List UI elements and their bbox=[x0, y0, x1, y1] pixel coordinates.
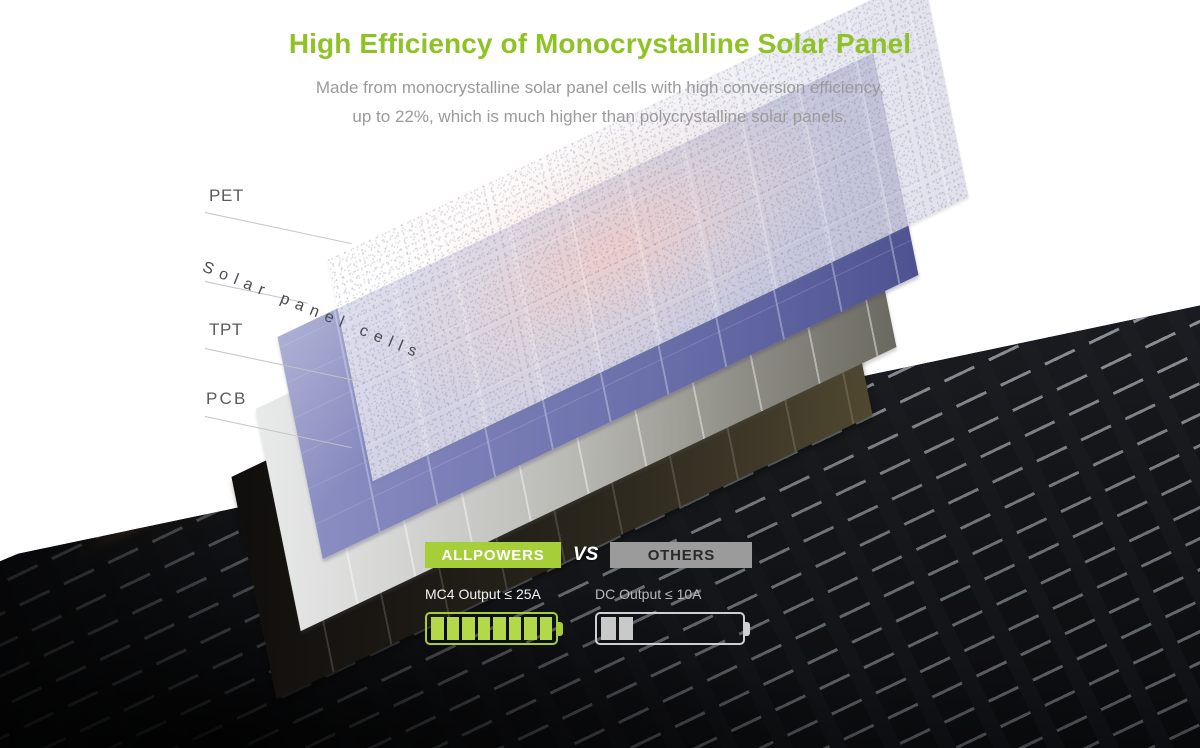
layer-label-tpt: TPT bbox=[209, 320, 243, 340]
page-subtitle: Made from monocrystalline solar panel ce… bbox=[0, 73, 1200, 131]
battery-indicator-others bbox=[595, 612, 745, 645]
battery-bar bbox=[478, 617, 491, 640]
subtitle-line-1: Made from monocrystalline solar panel ce… bbox=[0, 73, 1200, 102]
battery-bar-empty bbox=[672, 617, 687, 640]
battery-bar bbox=[447, 617, 460, 640]
battery-indicator-allpowers bbox=[425, 612, 558, 645]
page-title: High Efficiency of Monocrystalline Solar… bbox=[0, 26, 1200, 62]
layer-sheet-pet bbox=[318, 118, 978, 338]
badge-others: OTHERS bbox=[610, 542, 752, 568]
spec-text-allpowers: MC4 Output ≤ 25A bbox=[425, 585, 595, 603]
spec-text-others: DC Output ≤ 10A bbox=[595, 585, 765, 603]
battery-bar bbox=[524, 617, 537, 640]
spec-column-others: DC Output ≤ 10A bbox=[595, 585, 765, 645]
layer-label-pet: PET bbox=[209, 186, 244, 206]
battery-bar bbox=[493, 617, 506, 640]
subtitle-line-2: up to 22%, which is much higher than pol… bbox=[0, 102, 1200, 131]
battery-bar bbox=[509, 617, 522, 640]
battery-bar-empty bbox=[654, 617, 669, 640]
battery-bar bbox=[601, 617, 616, 640]
battery-bar-empty bbox=[707, 617, 722, 640]
battery-bar-empty bbox=[636, 617, 651, 640]
badge-allpowers: ALLPOWERS bbox=[425, 542, 561, 568]
comparison-badges-row: ALLPOWERS VS OTHERS bbox=[425, 542, 765, 568]
battery-bar-empty bbox=[724, 617, 739, 640]
layer-label-pcb: PCB bbox=[206, 389, 248, 409]
battery-bar bbox=[540, 617, 553, 640]
comparison-block: ALLPOWERS VS OTHERS MC4 Output ≤ 25A bbox=[425, 542, 765, 645]
battery-bar bbox=[431, 617, 444, 640]
battery-bar bbox=[619, 617, 634, 640]
vs-label: VS bbox=[573, 544, 598, 566]
battery-bar bbox=[462, 617, 475, 640]
comparison-specs-row: MC4 Output ≤ 25A DC Output ≤ 10A bbox=[425, 585, 765, 645]
spec-column-allpowers: MC4 Output ≤ 25A bbox=[425, 585, 595, 645]
header-block: High Efficiency of Monocrystalline Solar… bbox=[0, 26, 1200, 131]
battery-bar-empty bbox=[689, 617, 704, 640]
infographic-canvas: PET Solar panel cells TPT PCB High Effic… bbox=[0, 0, 1200, 748]
